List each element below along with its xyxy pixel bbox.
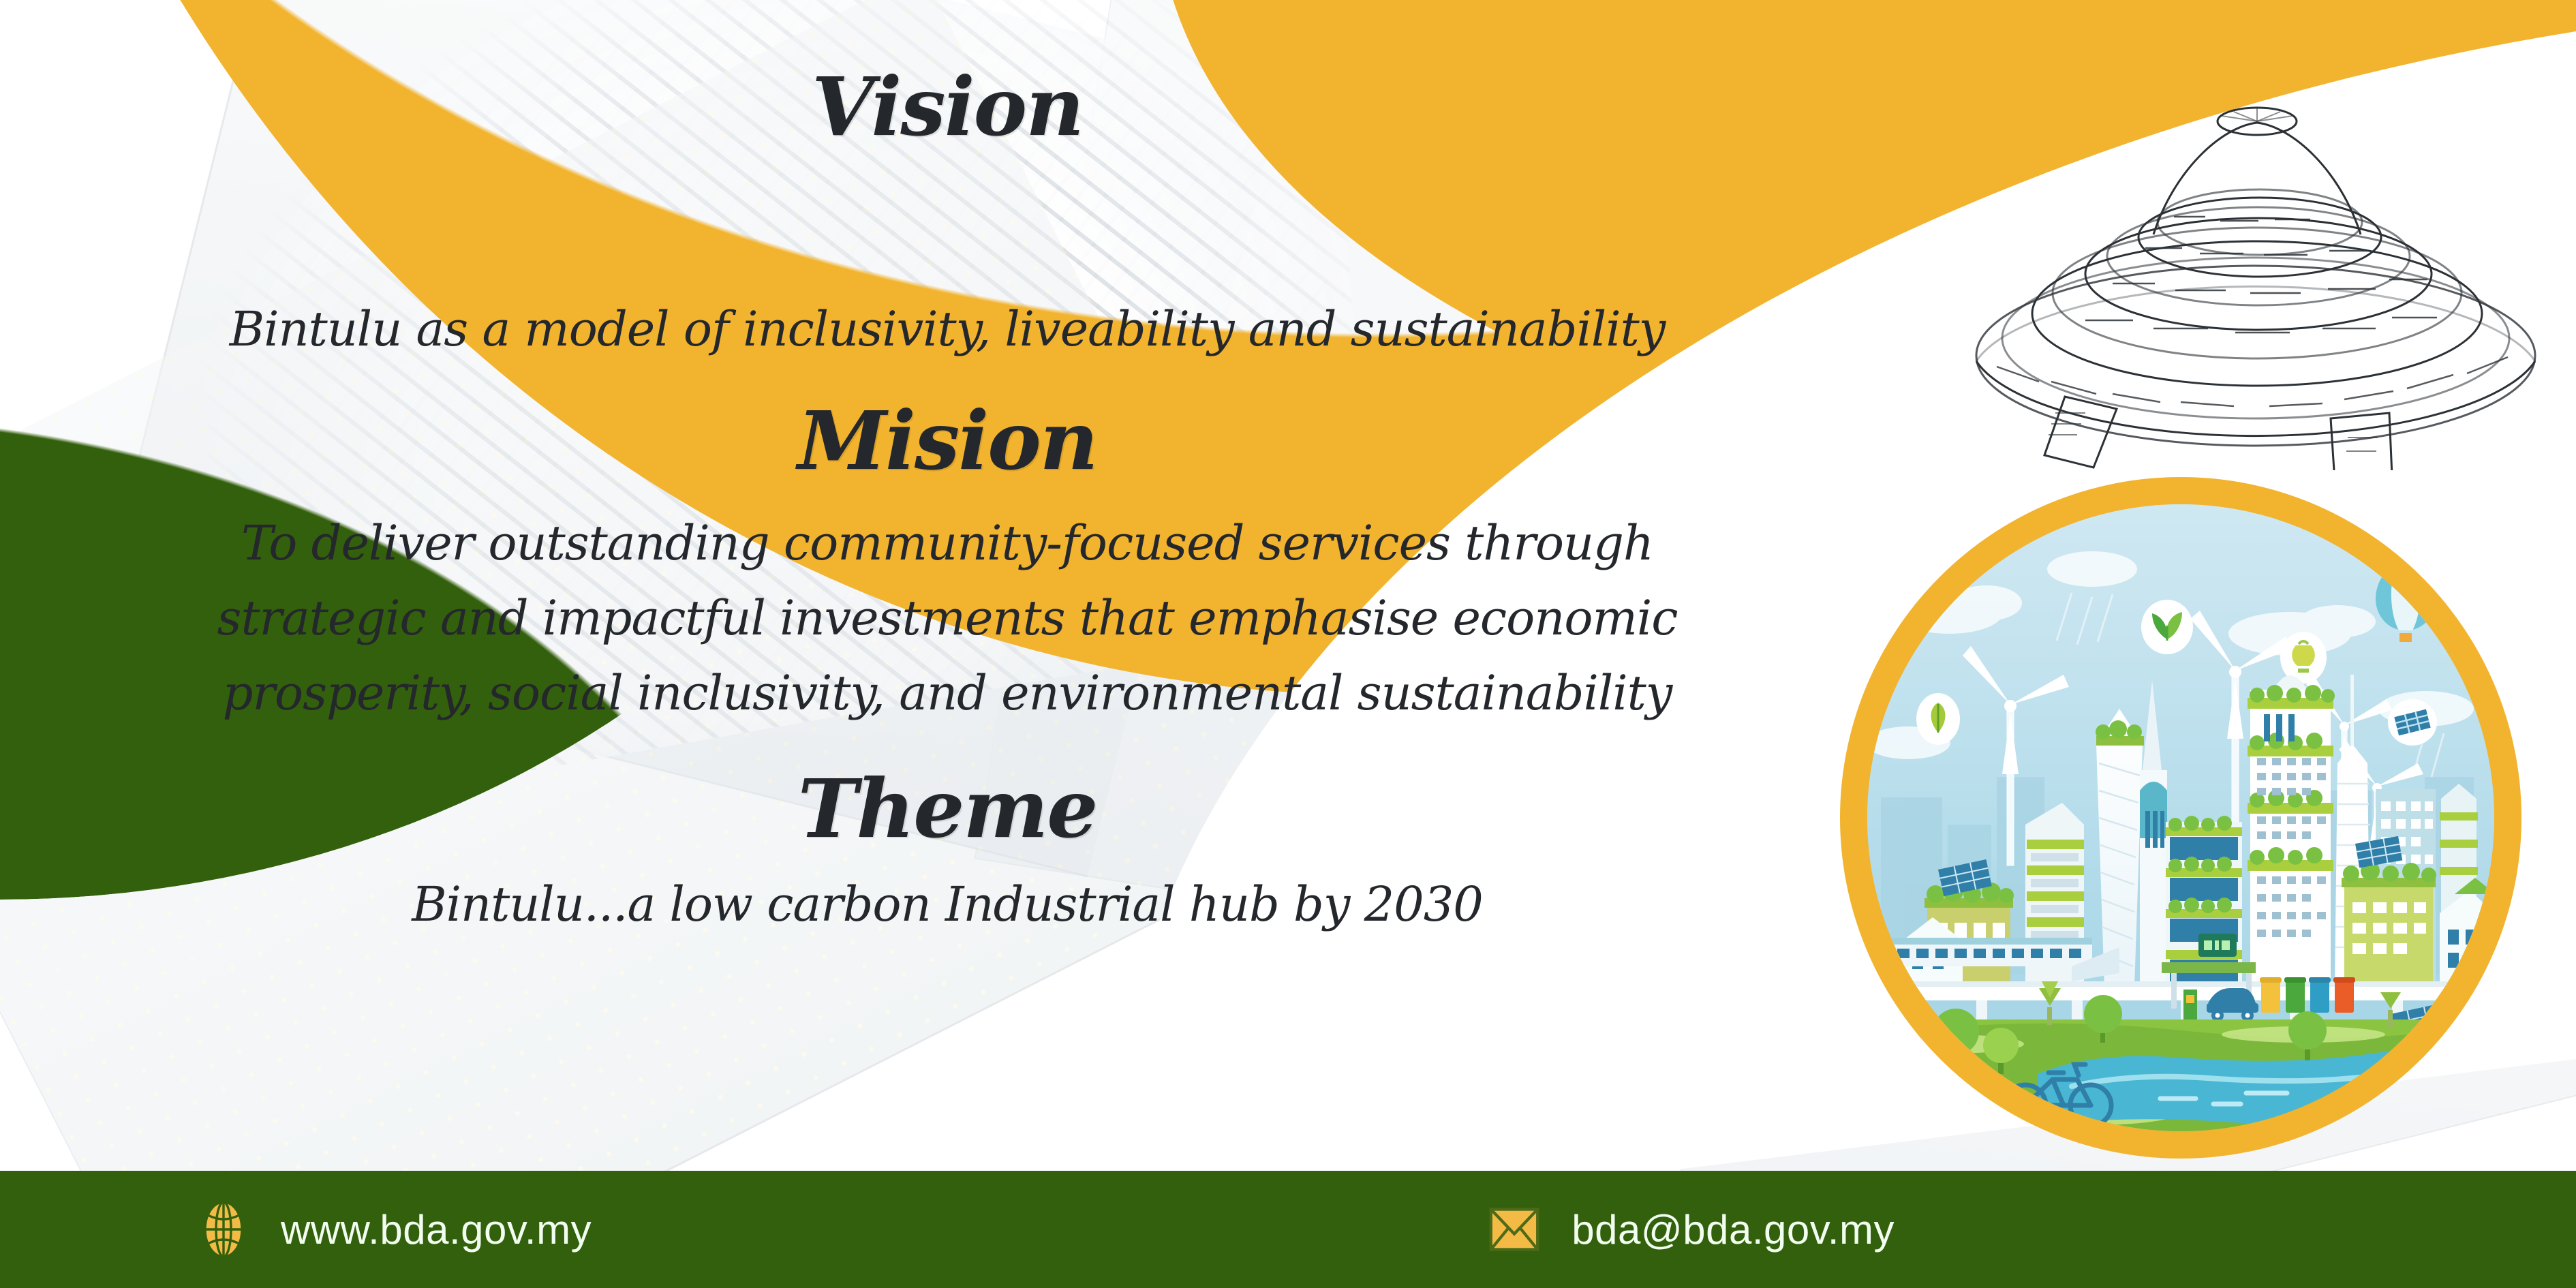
envelope-icon bbox=[1488, 1200, 1540, 1259]
footer-website-text[interactable]: www.bda.gov.my bbox=[281, 1206, 592, 1253]
footer-email[interactable]: bda@bda.gov.my bbox=[1488, 1200, 1895, 1259]
eco-city-illustration bbox=[1867, 504, 2494, 1131]
footer-email-text[interactable]: bda@bda.gov.my bbox=[1571, 1206, 1895, 1253]
footer-website[interactable]: www.bda.gov.my bbox=[198, 1200, 592, 1259]
footer-bar: www.bda.gov.my bda@bda.gov.my bbox=[0, 1171, 2576, 1288]
landmark-building-icon bbox=[1949, 89, 2562, 470]
globe-icon bbox=[198, 1200, 249, 1259]
eco-city-medallion bbox=[1840, 477, 2521, 1159]
banner: Vision Bintulu as a model of inclusivity… bbox=[0, 0, 2576, 1288]
